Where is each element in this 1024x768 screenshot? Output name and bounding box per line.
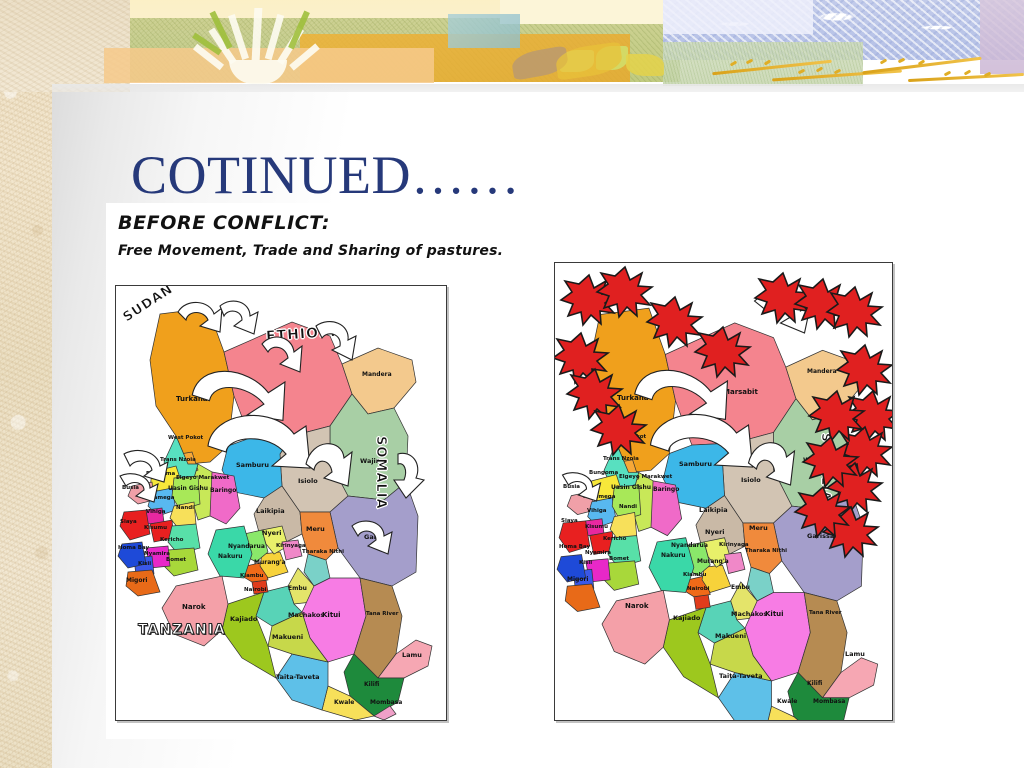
conflict-burst-icons <box>555 263 892 720</box>
wheat-motif-icon <box>712 52 1024 86</box>
slide-title: COTINUED…… <box>131 148 520 202</box>
before-conflict-map[interactable]: SUDAN ETHIOPIA SOMALIA UGANDA TANZANIA T… <box>115 285 447 721</box>
movement-arrows-left <box>116 286 446 720</box>
section-heading: BEFORE CONFLICT: <box>118 212 330 234</box>
green-leaf-motif-icon <box>200 6 320 66</box>
left-texture-strip <box>0 0 52 768</box>
during-conflict-map[interactable]: SOMALIA Turkana Marsabit Mandera Wajir I… <box>554 262 893 721</box>
section-subheading: Free Movement, Trade and Sharing of past… <box>118 243 503 259</box>
presentation-slide: COTINUED…… BEFORE CONFLICT: Free Movemen… <box>0 0 1024 768</box>
decorative-header-banner <box>0 0 1024 92</box>
map-canvas-left: SUDAN ETHIOPIA SOMALIA UGANDA TANZANIA T… <box>116 286 446 720</box>
pinecone-motif-icon <box>512 42 642 82</box>
map-canvas-right: SOMALIA Turkana Marsabit Mandera Wajir I… <box>555 263 892 720</box>
